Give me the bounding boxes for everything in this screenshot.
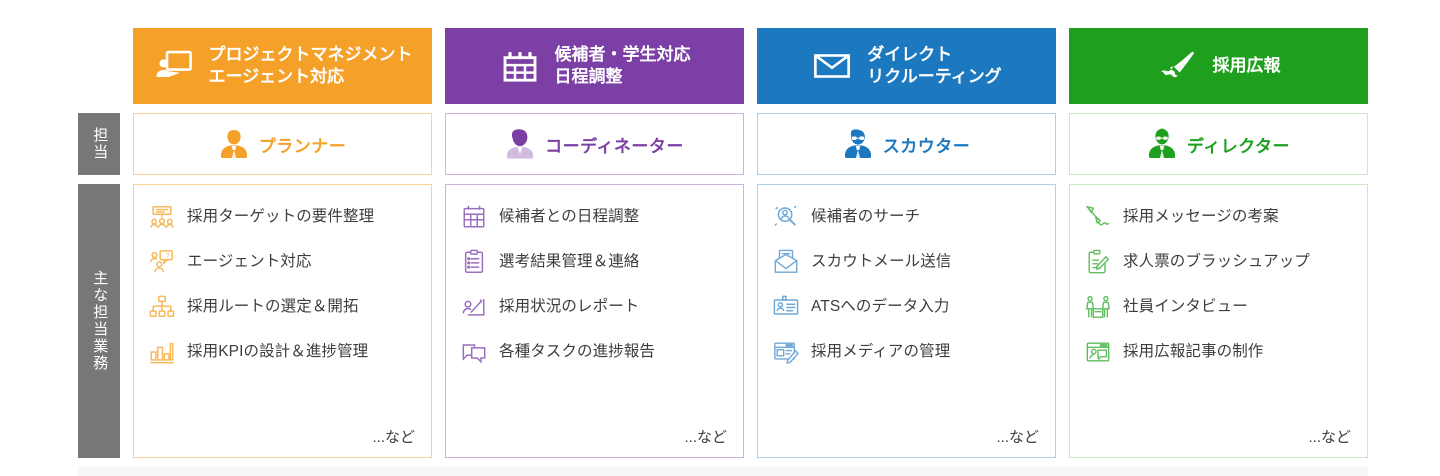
tasks-box-candidate-scheduling: 候補者との日程調整 xyxy=(445,184,744,458)
column-header-direct-recruiting[interactable]: ダイレクト リクルーティング xyxy=(757,28,1056,104)
task-label: 候補者との日程調整 xyxy=(499,208,639,227)
row-label-rail: 担当 主な担当業務 xyxy=(78,28,120,458)
column-header-title: ダイレクト リクルーティング xyxy=(867,44,1001,88)
rail-gap-2 xyxy=(78,175,120,184)
column-gap-4b xyxy=(1069,175,1368,184)
task-label: 選考結果管理＆連絡 xyxy=(499,253,639,272)
task-row[interactable]: 採用広報記事の制作 xyxy=(1084,338,1353,366)
role-box-scouter[interactable]: スカウター xyxy=(757,113,1056,175)
task-row[interactable]: 採用ルートの選定＆開拓 xyxy=(148,293,417,321)
open-envelope-icon xyxy=(772,248,800,276)
task-label: 候補者のサーチ xyxy=(811,208,920,227)
row-label-tasks: 主な担当業務 xyxy=(78,184,120,458)
coordinator-avatar-icon xyxy=(505,127,535,161)
task-list: 候補者のサーチ スカウトメール送信 xyxy=(772,199,1041,420)
column-gap-1a xyxy=(133,104,432,113)
task-list: 採用ターゲットの要件整理 ? xyxy=(148,199,417,420)
role-box-coordinator[interactable]: コーディネーター xyxy=(445,113,744,175)
task-label: 採用ルートの選定＆開拓 xyxy=(187,298,359,317)
task-row[interactable]: 選考結果管理＆連絡 xyxy=(460,248,729,276)
more-label: ...など xyxy=(1084,420,1353,449)
rail-gap-1 xyxy=(78,104,120,113)
task-label: スカウトメール送信 xyxy=(811,253,951,272)
task-label: 採用KPIの設計＆進捗管理 xyxy=(187,343,368,362)
clipboard-list-icon xyxy=(460,248,488,276)
recruitment-roles-infographic: 担当 主な担当業務 プロジェクトマネジメント エージェント xyxy=(0,0,1440,476)
org-chart-icon xyxy=(148,293,176,321)
column-header-project-management[interactable]: プロジェクトマネジメント エージェント対応 xyxy=(133,28,432,104)
planner-avatar-icon xyxy=(219,127,249,161)
svg-text:?: ? xyxy=(166,252,170,259)
column-gap-2b xyxy=(445,175,744,184)
bottom-band xyxy=(78,466,1368,476)
presentation-person-icon xyxy=(153,45,195,87)
task-row[interactable]: スカウトメール送信 xyxy=(772,248,1041,276)
task-label: 採用メッセージの考案 xyxy=(1123,208,1279,227)
task-label: 採用広報記事の制作 xyxy=(1123,343,1263,362)
role-name: コーディネーター xyxy=(545,132,684,157)
calendar-icon xyxy=(460,203,488,231)
pen-writing-icon xyxy=(1084,203,1112,231)
role-name: ディレクター xyxy=(1187,132,1290,157)
column-direct-recruiting: ダイレクト リクルーティング xyxy=(757,28,1056,458)
column-header-title: プロジェクトマネジメント エージェント対応 xyxy=(209,44,413,88)
row-label-role: 担当 xyxy=(78,113,120,175)
column-gap-4a xyxy=(1069,104,1368,113)
bar-chart-icon xyxy=(148,338,176,366)
task-row[interactable]: 採用ターゲットの要件整理 xyxy=(148,203,417,231)
task-row[interactable]: 求人票のブラッシュアップ xyxy=(1084,248,1353,276)
column-header-candidate-scheduling[interactable]: 候補者・学生対応 日程調整 xyxy=(445,28,744,104)
task-label: 採用ターゲットの要件整理 xyxy=(187,208,374,227)
column-project-management: プロジェクトマネジメント エージェント対応 プランナー xyxy=(133,28,432,458)
media-edit-icon xyxy=(772,338,800,366)
scouter-avatar-icon xyxy=(843,127,873,161)
task-label: 求人票のブラッシュアップ xyxy=(1123,253,1310,272)
rocket-pen-icon xyxy=(1157,45,1199,87)
task-row[interactable]: ? エージェント対応 xyxy=(148,248,417,276)
task-row[interactable]: ATSへのデータ入力 xyxy=(772,293,1041,321)
task-row[interactable]: 採用メディアの管理 xyxy=(772,338,1041,366)
column-header-title: 採用広報 xyxy=(1213,55,1281,77)
task-label: 採用状況のレポート xyxy=(499,298,639,317)
role-name: プランナー xyxy=(259,132,347,157)
task-row[interactable]: 各種タスクの進捗報告 xyxy=(460,338,729,366)
roles-grid: 担当 主な担当業務 プロジェクトマネジメント エージェント xyxy=(78,28,1368,458)
column-gap-3b xyxy=(757,175,1056,184)
column-gap-3a xyxy=(757,104,1056,113)
task-label: 各種タスクの進捗報告 xyxy=(499,343,655,362)
task-row[interactable]: 採用KPIの設計＆進捗管理 xyxy=(148,338,417,366)
column-recruitment-pr: 採用広報 xyxy=(1069,28,1368,458)
tasks-box-recruitment-pr: 採用メッセージの考案 xyxy=(1069,184,1368,458)
chat-bubbles-icon xyxy=(460,338,488,366)
column-gap-2a xyxy=(445,104,744,113)
tasks-box-direct-recruiting: 候補者のサーチ スカウトメール送信 xyxy=(757,184,1056,458)
person-search-icon xyxy=(772,203,800,231)
role-name: スカウター xyxy=(883,132,971,157)
agent-support-icon: ? xyxy=(148,248,176,276)
task-row[interactable]: 採用メッセージの考案 xyxy=(1084,203,1353,231)
role-box-planner[interactable]: プランナー xyxy=(133,113,432,175)
id-card-icon xyxy=(772,293,800,321)
calendar-icon xyxy=(499,45,541,87)
task-label: エージェント対応 xyxy=(187,253,312,272)
column-gap-1b xyxy=(133,175,432,184)
task-label: ATSへのデータ入力 xyxy=(811,298,950,317)
task-row[interactable]: 候補者のサーチ xyxy=(772,203,1041,231)
more-label: ...など xyxy=(148,420,417,449)
target-requirements-icon xyxy=(148,203,176,231)
task-list: 候補者との日程調整 xyxy=(460,199,729,420)
task-label: 社員インタビュー xyxy=(1123,298,1248,317)
more-label: ...など xyxy=(772,420,1041,449)
task-label: 採用メディアの管理 xyxy=(811,343,950,362)
report-person-icon xyxy=(460,293,488,321)
task-row[interactable]: 社員インタビュー xyxy=(1084,293,1353,321)
task-list: 採用メッセージの考案 xyxy=(1084,199,1353,420)
task-row[interactable]: 候補者との日程調整 xyxy=(460,203,729,231)
column-candidate-scheduling: 候補者・学生対応 日程調整 コーディネーター xyxy=(445,28,744,458)
column-header-recruitment-pr[interactable]: 採用広報 xyxy=(1069,28,1368,104)
task-row[interactable]: 採用状況のレポート xyxy=(460,293,729,321)
director-avatar-icon xyxy=(1147,127,1177,161)
clipboard-pen-icon xyxy=(1084,248,1112,276)
columns-container: プロジェクトマネジメント エージェント対応 プランナー xyxy=(120,28,1368,458)
interview-icon xyxy=(1084,293,1112,321)
tasks-box-project-management: 採用ターゲットの要件整理 ? xyxy=(133,184,432,458)
column-header-title: 候補者・学生対応 日程調整 xyxy=(555,44,691,88)
envelope-icon xyxy=(811,45,853,87)
article-person-icon xyxy=(1084,338,1112,366)
more-label: ...など xyxy=(460,420,729,449)
rail-header-spacer xyxy=(78,28,120,104)
role-box-director[interactable]: ディレクター xyxy=(1069,113,1368,175)
